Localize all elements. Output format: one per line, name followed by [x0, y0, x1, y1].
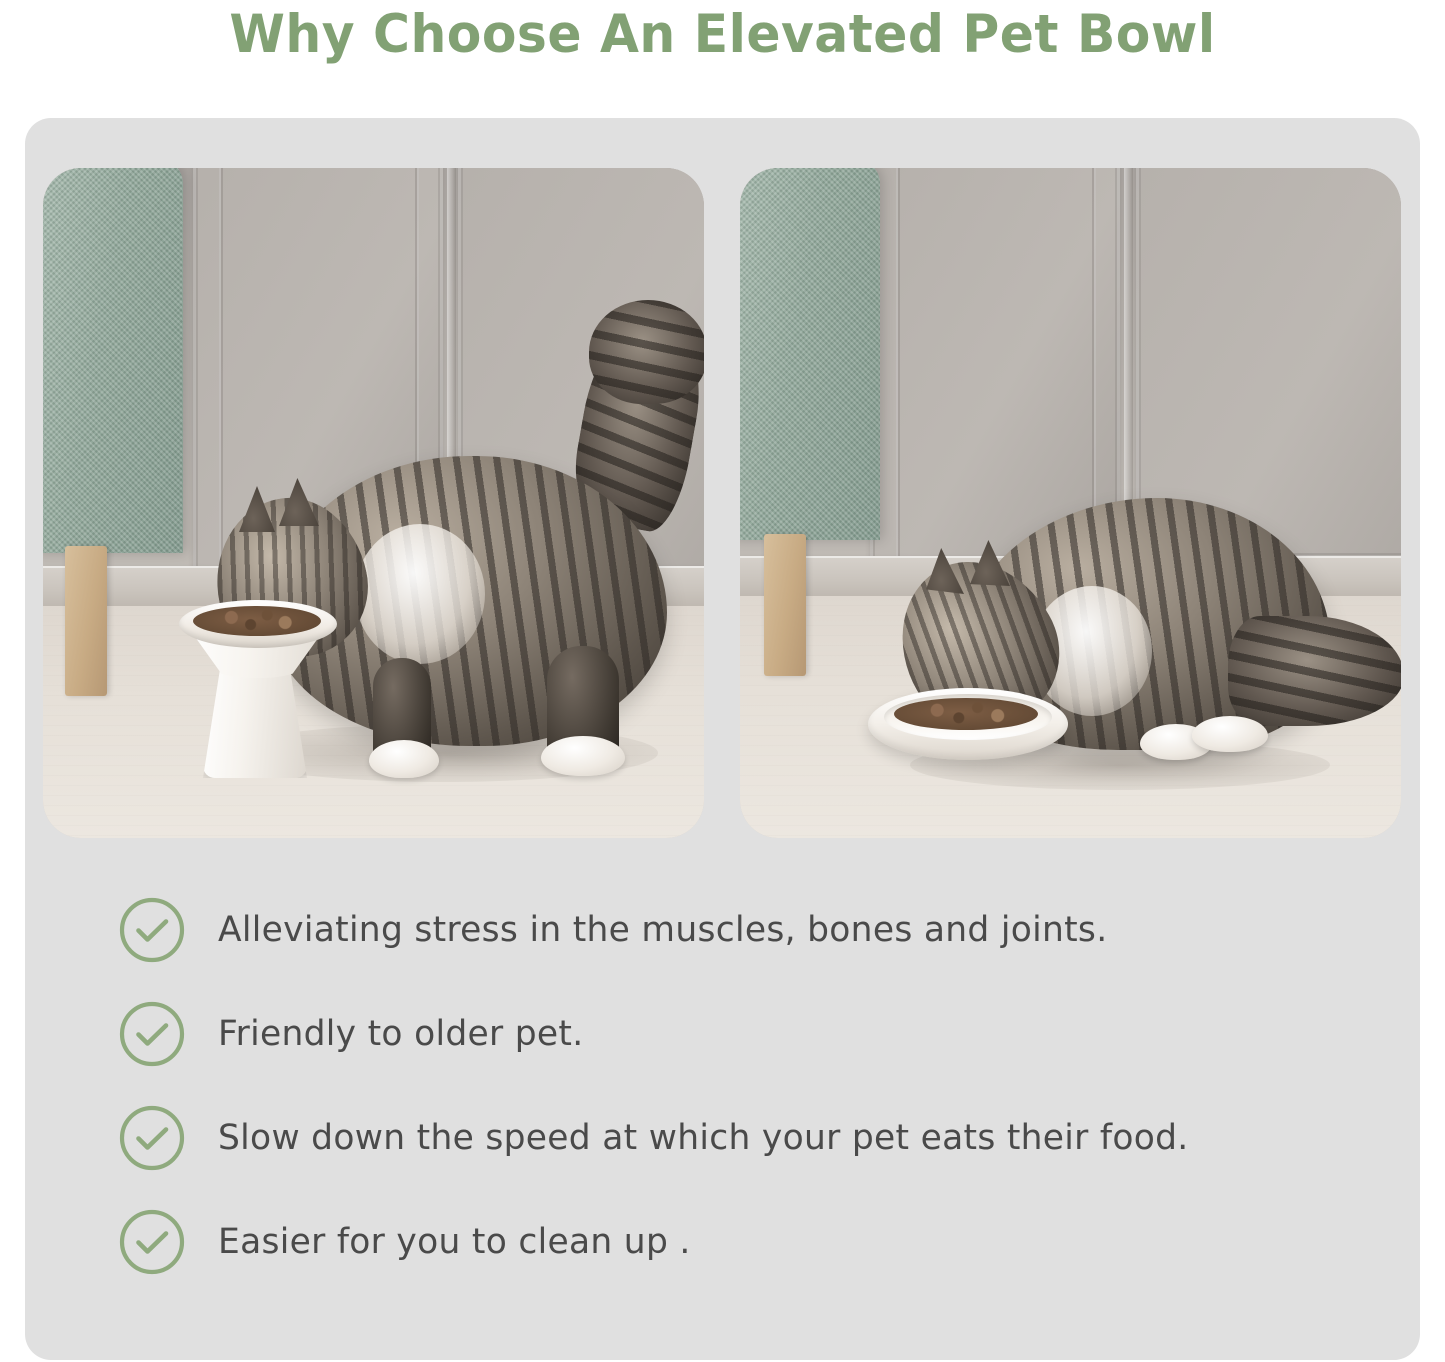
list-item: Easier for you to clean up .: [25, 1190, 1420, 1294]
cat-hind-paw: [541, 736, 625, 776]
elevated-bowl-scene: [43, 168, 704, 838]
flat-bowl-scene: [740, 168, 1401, 838]
cat-tail: [1228, 616, 1401, 726]
cat-hind-paw: [1192, 716, 1268, 752]
wooden-furniture-leg: [65, 546, 107, 696]
cat-front-paw: [369, 740, 439, 778]
cat-tail-tip: [589, 300, 704, 404]
cat-chest-fur: [355, 524, 485, 664]
benefit-label: Friendly to older pet.: [218, 1014, 583, 1054]
bowl-food: [894, 698, 1038, 730]
benefit-label: Slow down the speed at which your pet ea…: [218, 1118, 1189, 1158]
check-circle-icon: [118, 1208, 186, 1276]
content-card: Alleviating stress in the muscles, bones…: [25, 118, 1420, 1360]
list-item: Alleviating stress in the muscles, bones…: [25, 878, 1420, 982]
benefits-list: Alleviating stress in the muscles, bones…: [25, 878, 1420, 1294]
list-item: Slow down the speed at which your pet ea…: [25, 1086, 1420, 1190]
benefit-label: Easier for you to clean up .: [218, 1222, 691, 1262]
elevated-bowl-photo: [43, 168, 704, 838]
check-circle-icon: [118, 1000, 186, 1068]
check-circle-icon: [118, 896, 186, 964]
flat-bowl-photo: [740, 168, 1401, 838]
comparison-photo-row: [43, 168, 1403, 838]
sofa-upholstery: [43, 168, 183, 553]
bowl-food: [193, 606, 321, 636]
benefit-label: Alleviating stress in the muscles, bones…: [218, 910, 1107, 950]
infographic-page: Why Choose An Elevated Pet Bowl: [0, 0, 1445, 1362]
check-circle-icon: [118, 1104, 186, 1172]
page-title: Why Choose An Elevated Pet Bowl: [36, 0, 1409, 68]
sofa-upholstery: [740, 168, 880, 540]
list-item: Friendly to older pet.: [25, 982, 1420, 1086]
wooden-furniture-leg: [764, 534, 806, 676]
